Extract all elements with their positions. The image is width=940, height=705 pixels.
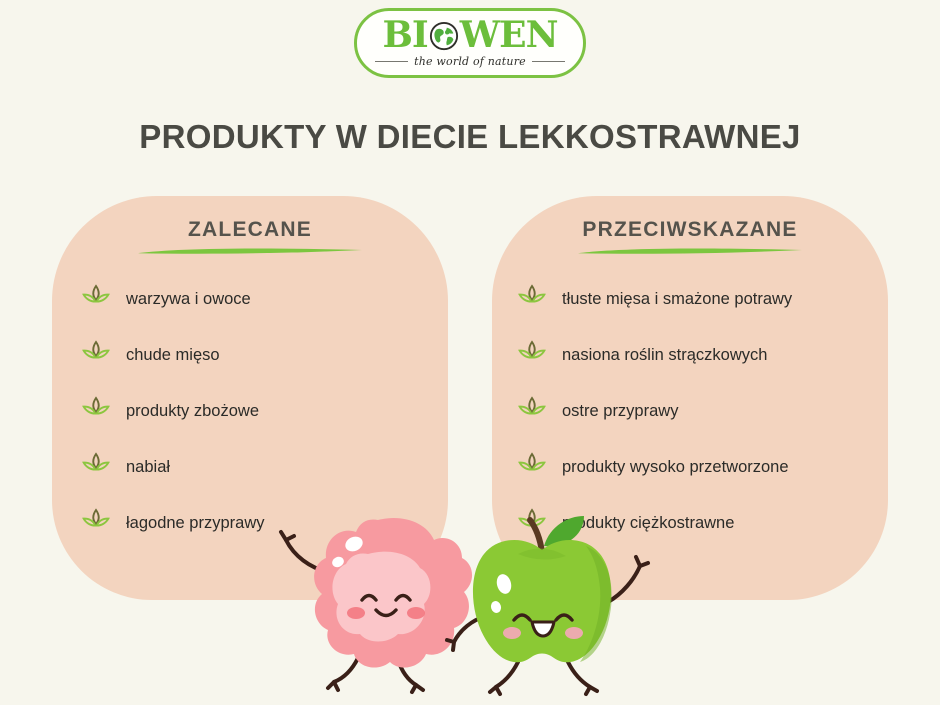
list-item: chude mięso: [52, 327, 448, 383]
sprout-icon: [82, 508, 110, 538]
sprout-icon: [518, 452, 546, 482]
list-item: produkty zbożowe: [52, 383, 448, 439]
apple-character: [447, 516, 648, 694]
list-item: tłuste mięsa i smażone potrawy: [492, 271, 888, 327]
list-item: warzywa i owoce: [52, 271, 448, 327]
list-item-label: produkty wysoko przetworzone: [562, 458, 789, 477]
globe-icon: [429, 21, 459, 51]
list-item-label: łagodne przyprawy: [126, 514, 265, 533]
sprout-icon: [82, 340, 110, 370]
gut-character: [281, 518, 472, 692]
logo-badge: BI WEN the world of nature: [354, 8, 586, 78]
list-item: ostre przyprawy: [492, 383, 888, 439]
list-item-label: warzywa i owoce: [126, 290, 251, 309]
sprout-icon: [82, 396, 110, 426]
mascot-illustrations: [250, 510, 690, 700]
logo-tagline: the world of nature: [414, 55, 526, 68]
contraindicated-list: tłuste mięsa i smażone potrawy nasiona r…: [492, 271, 888, 551]
logo-text-right: WEN: [460, 17, 558, 53]
list-item-label: chude mięso: [126, 346, 220, 365]
sprout-icon: [82, 284, 110, 314]
contraindicated-card-header: PRZECIWSKAZANE: [492, 196, 888, 257]
page-title: PRODUKTY W DIECIE LEKKOSTRAWNEJ: [0, 118, 940, 156]
underline-stroke-icon: [575, 245, 805, 257]
recommended-card-title: ZALECANE: [52, 218, 448, 242]
contraindicated-card-title: PRZECIWSKAZANE: [492, 218, 888, 242]
list-item-label: ostre przyprawy: [562, 402, 678, 421]
list-item: produkty wysoko przetworzone: [492, 439, 888, 495]
logo-text-left: BI: [382, 17, 427, 53]
list-item-label: nabiał: [126, 458, 170, 477]
logo-tagline-row: the world of nature: [375, 55, 565, 68]
list-item: nasiona roślin strączkowych: [492, 327, 888, 383]
list-item-label: produkty zbożowe: [126, 402, 259, 421]
sprout-icon: [518, 396, 546, 426]
recommended-list: warzywa i owoce chude mięso produkty z: [52, 271, 448, 551]
brand-logo: BI WEN the world of nature: [0, 8, 940, 78]
underline-stroke-icon: [135, 245, 365, 257]
list-item-label: tłuste mięsa i smażone potrawy: [562, 290, 792, 309]
recommended-card-header: ZALECANE: [52, 196, 448, 257]
list-item-label: nasiona roślin strączkowych: [562, 346, 767, 365]
list-item: nabiał: [52, 439, 448, 495]
sprout-icon: [518, 284, 546, 314]
tagline-rule-left: [375, 61, 408, 62]
sprout-icon: [82, 452, 110, 482]
sprout-icon: [518, 340, 546, 370]
logo-wordmark: BI WEN: [382, 18, 557, 52]
tagline-rule-right: [532, 61, 565, 62]
